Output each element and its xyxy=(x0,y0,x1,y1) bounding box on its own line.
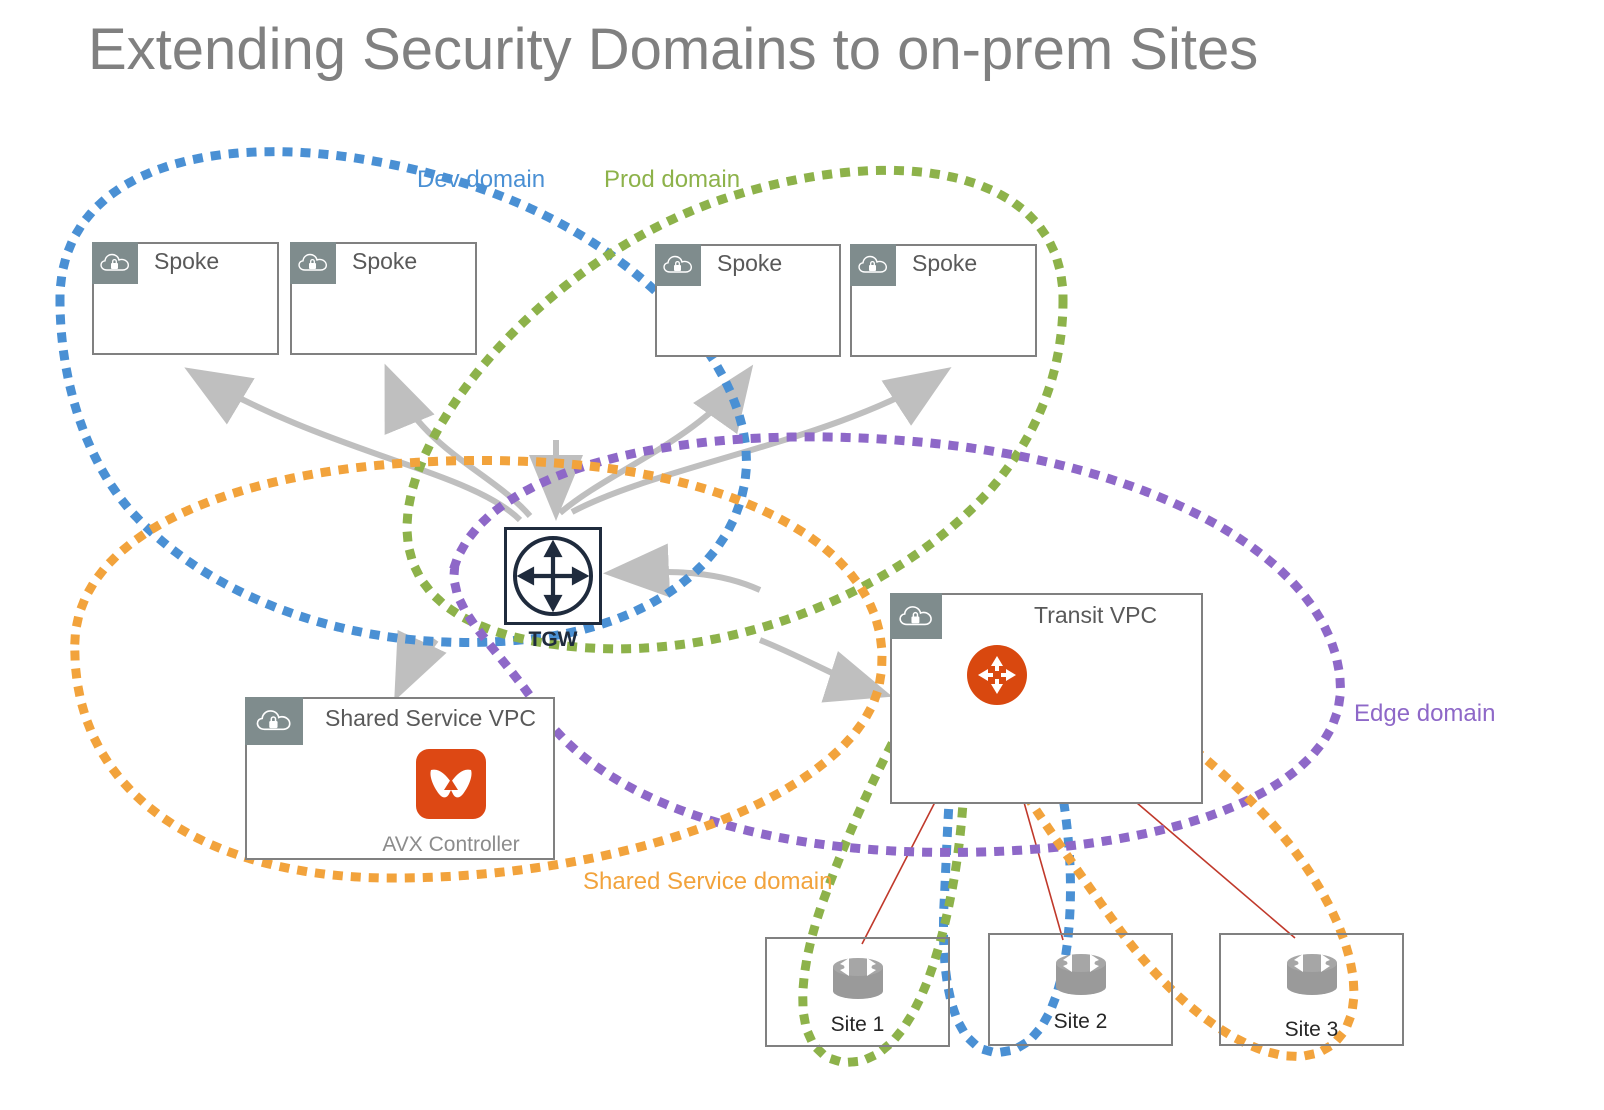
transit-vpc[interactable]: Transit VPC xyxy=(890,593,1203,804)
site-label-3: Site 3 xyxy=(1221,1018,1402,1042)
spoke-vpc-2[interactable]: Spoke xyxy=(290,242,477,355)
arrow-tgw-to-spoke-1 xyxy=(192,372,520,520)
router-icon xyxy=(1281,941,1343,1006)
router-icon xyxy=(1050,941,1112,1006)
domain-label-prod: Prod domain xyxy=(604,166,740,194)
shared-service-vpc-label: Shared Service VPC xyxy=(325,705,536,732)
domain-label-shared-service: Shared Service domain xyxy=(583,868,832,896)
transit-vpc-label: Transit VPC xyxy=(1034,602,1157,629)
cloud-lock-icon xyxy=(92,242,138,284)
router-icon xyxy=(827,945,889,1010)
transit-gateway-icon[interactable] xyxy=(967,645,1027,705)
arrow-tgw-to-spoke-2 xyxy=(388,372,530,516)
aviatrix-logo-icon xyxy=(416,749,486,819)
site-label-2: Site 2 xyxy=(990,1010,1171,1034)
site-box-2[interactable]: Site 2 xyxy=(988,933,1173,1046)
spoke-vpc-4[interactable]: Spoke xyxy=(850,244,1037,357)
site-box-1[interactable]: Site 1 xyxy=(765,937,950,1047)
tgw-label: TGW xyxy=(504,628,602,652)
cloud-lock-icon xyxy=(245,697,303,745)
spoke-vpc-2-label: Spoke xyxy=(352,248,417,275)
diagram-canvas: Extending Security Domains to on-prem Si… xyxy=(0,0,1604,1110)
spoke-vpc-1-label: Spoke xyxy=(154,248,219,275)
cloud-lock-icon xyxy=(290,242,336,284)
domain-label-edge: Edge domain xyxy=(1354,700,1495,728)
domain-label-dev: Dev domain xyxy=(417,166,545,194)
tgw-node[interactable] xyxy=(504,527,602,625)
cloud-lock-icon xyxy=(850,244,896,286)
arrow-tgw-to-transit-vpc xyxy=(760,640,884,694)
spoke-vpc-1[interactable]: Spoke xyxy=(92,242,279,355)
arrow-tgw-to-shared-service-vpc xyxy=(398,640,436,693)
cloud-lock-icon xyxy=(890,593,942,639)
spoke-vpc-3[interactable]: Spoke xyxy=(655,244,841,357)
cloud-lock-icon xyxy=(655,244,701,286)
site-label-1: Site 1 xyxy=(767,1013,948,1037)
site-box-3[interactable]: Site 3 xyxy=(1219,933,1404,1046)
spoke-vpc-3-label: Spoke xyxy=(717,250,782,277)
four-way-arrow-icon xyxy=(507,530,599,622)
avx-controller-label: AVX Controller xyxy=(341,833,561,857)
spoke-vpc-4-label: Spoke xyxy=(912,250,977,277)
